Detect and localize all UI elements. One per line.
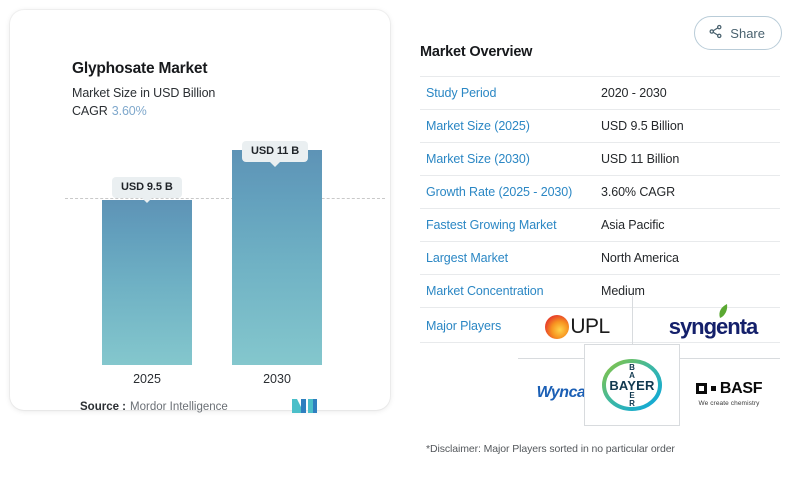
bar-value-label-2030: USD 11 B xyxy=(242,141,308,162)
table-row: Largest Market North America xyxy=(420,242,780,275)
player-name-wynca: Wynca xyxy=(537,384,586,402)
reference-dashed-line xyxy=(65,198,385,199)
player-logo-basf: BASF We create chemistry xyxy=(678,362,780,424)
row-key: Growth Rate (2025 - 2030) xyxy=(420,176,595,209)
row-value: 3.60% CAGR xyxy=(595,176,780,209)
syngenta-leaf-icon xyxy=(718,304,729,319)
row-value: 2020 - 2030 xyxy=(595,77,780,110)
player-name-syngenta: syngenta xyxy=(669,314,758,340)
bar-2030[interactable] xyxy=(232,150,322,365)
players-disclaimer: *Disclaimer: Major Players sorted in no … xyxy=(426,443,675,455)
chart-source-name: Mordor Intelligence xyxy=(130,401,228,413)
chart-card: Glyphosate Market Market Size in USD Bil… xyxy=(10,10,390,410)
market-overview-title: Market Overview xyxy=(420,44,780,60)
table-row: Study Period 2020 - 2030 xyxy=(420,77,780,110)
basf-dot-icon xyxy=(711,386,716,391)
share-icon xyxy=(708,24,723,42)
svg-text:A: A xyxy=(629,371,635,380)
chart-source-label: Source : xyxy=(80,401,126,413)
svg-text:R: R xyxy=(629,399,635,408)
row-value: USD 11 Billion xyxy=(595,143,780,176)
row-value: USD 9.5 Billion xyxy=(595,110,780,143)
table-row: Growth Rate (2025 - 2030) 3.60% CAGR xyxy=(420,176,780,209)
bayer-cross-icon: BAYER B A E R xyxy=(600,356,664,414)
bar-value-label-2025: USD 9.5 B xyxy=(112,177,182,198)
player-name-upl: UPL xyxy=(570,315,609,339)
row-key: Study Period xyxy=(420,77,595,110)
row-key: Market Size (2025) xyxy=(420,110,595,143)
market-report-page: Share Glyphosate Market Market Size in U… xyxy=(0,0,800,482)
table-row: Market Size (2025) USD 9.5 Billion xyxy=(420,110,780,143)
row-key: Largest Market xyxy=(420,242,595,275)
row-key: Fastest Growing Market xyxy=(420,209,595,242)
row-key: Market Size (2030) xyxy=(420,143,595,176)
player-name-basf: BASF xyxy=(720,380,762,398)
player-logo-bayer: BAYER B A E R xyxy=(584,344,680,426)
mordor-intelligence-logo xyxy=(292,398,318,419)
chart-source: Source :Mordor Intelligence xyxy=(80,401,228,413)
bar-chart-plot: USD 9.5 B USD 11 B 2025 2030 xyxy=(10,10,390,410)
row-value: Asia Pacific xyxy=(595,209,780,242)
x-axis-tick-2030: 2030 xyxy=(232,372,322,386)
row-value: North America xyxy=(595,242,780,275)
player-tagline-basf: We create chemistry xyxy=(698,400,759,407)
table-row: Fastest Growing Market Asia Pacific xyxy=(420,209,780,242)
upl-mark-icon xyxy=(544,314,570,340)
x-axis-tick-2025: 2025 xyxy=(102,372,192,386)
share-button-label: Share xyxy=(730,26,765,41)
table-row: Market Size (2030) USD 11 Billion xyxy=(420,143,780,176)
basf-square-icon xyxy=(696,383,707,394)
bar-2025[interactable] xyxy=(102,200,192,365)
major-players-logo-grid: UPL syngenta Wynca 新安 B xyxy=(518,296,780,426)
